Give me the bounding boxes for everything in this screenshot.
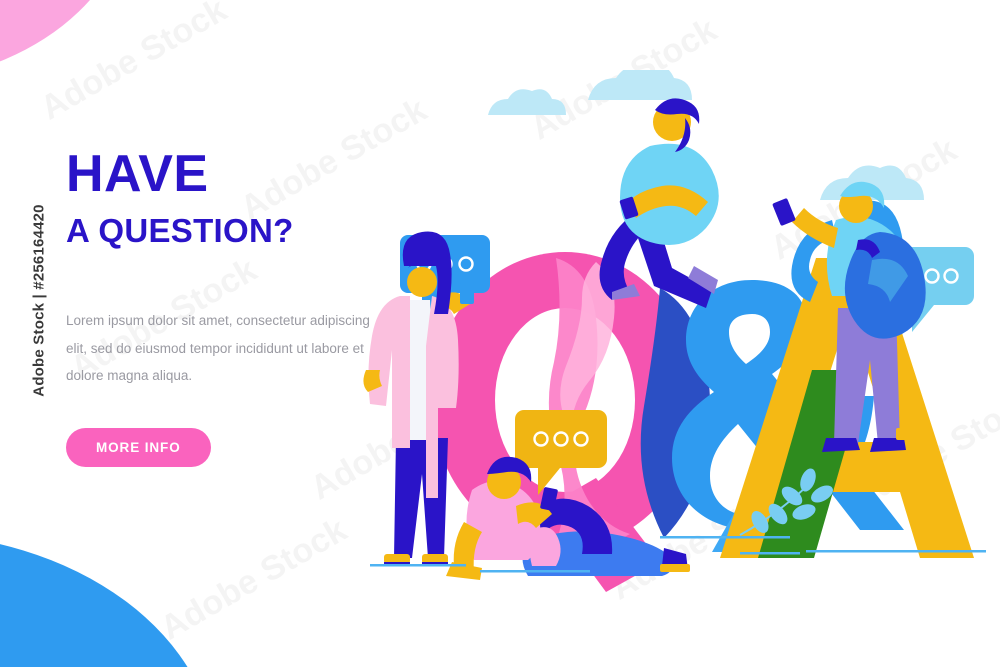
more-info-button[interactable]: MORE INFO bbox=[66, 428, 211, 467]
page-title-line1: HAVE bbox=[66, 148, 396, 200]
hero-text-column: HAVE A QUESTION? Lorem ipsum dolor sit a… bbox=[66, 148, 396, 467]
pink-corner-blob bbox=[0, 0, 134, 82]
hero-body-text: Lorem ipsum dolor sit amet, consectetur … bbox=[66, 307, 384, 390]
qa-illustration bbox=[360, 70, 1000, 610]
blue-corner-blob bbox=[0, 533, 216, 667]
man-sitting-top bbox=[600, 98, 719, 308]
cloud-icon bbox=[588, 70, 692, 100]
landing-page-banner: Adobe Stock Adobe Stock Adobe Stock Adob… bbox=[0, 0, 1000, 667]
page-title-line2: A QUESTION? bbox=[66, 214, 396, 247]
watermark-tile: Adobe Stock bbox=[154, 511, 353, 649]
adobe-stock-watermark: Adobe Stock | #256164420 bbox=[31, 176, 48, 426]
cloud-icon bbox=[488, 89, 566, 115]
